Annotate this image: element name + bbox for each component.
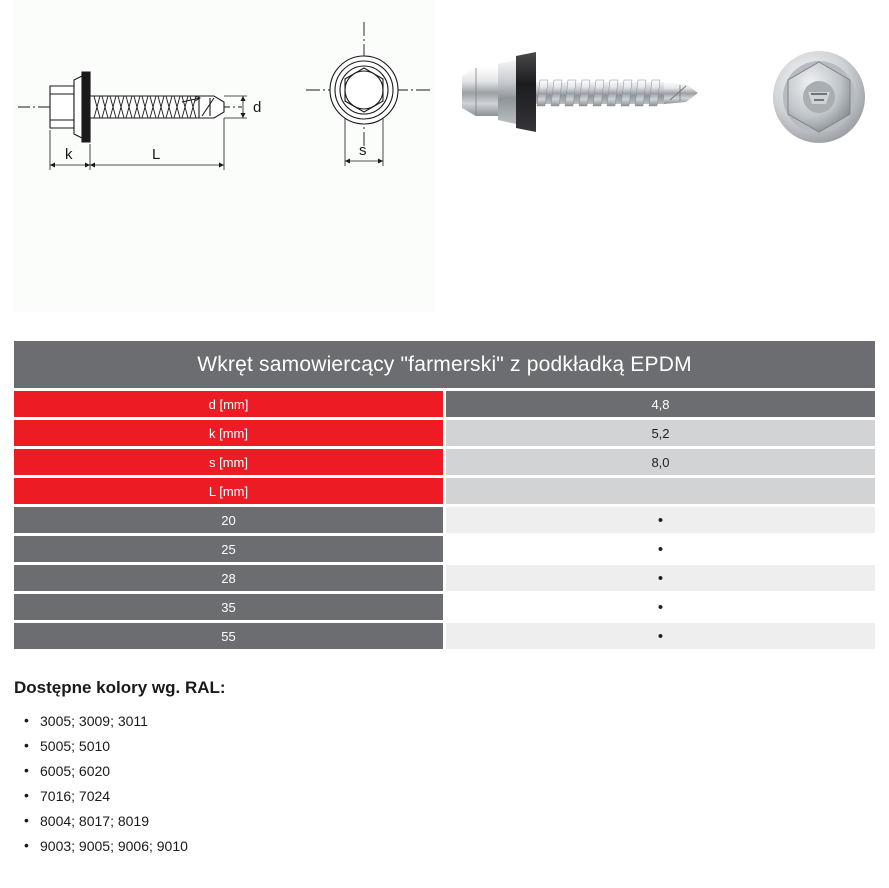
table-title: Wkręt samowiercący "farmerski" z podkład… (14, 341, 875, 388)
ral-color-list: 3005; 3009; 3011 5005; 5010 6005; 6020 7… (14, 714, 614, 853)
row-label-length-55: 55 (14, 623, 443, 649)
technical-drawing-panel: d k L (14, 0, 434, 312)
table-row: 35 • (14, 594, 875, 620)
row-availability-20: • (446, 507, 875, 533)
table-row: 28 • (14, 565, 875, 591)
row-value-d: 4,8 (446, 391, 875, 417)
dimension-label-k: k (65, 146, 73, 163)
screw-side-elevation-drawing: d k L (14, 18, 274, 183)
screw-head-photo-panel (744, 0, 889, 312)
available-colors-section: Dostępne kolory wg. RAL: 3005; 3009; 301… (14, 678, 614, 864)
product-spec-page: d k L (0, 0, 889, 888)
list-item: 7016; 7024 (40, 789, 614, 803)
specification-table: Wkręt samowiercący "farmerski" z podkład… (14, 341, 875, 652)
screw-side-photo (454, 38, 744, 148)
table-row: d [mm] 4,8 (14, 391, 875, 417)
list-item: 9003; 9005; 9006; 9010 (40, 839, 614, 853)
dimension-label-L: L (152, 146, 160, 163)
row-value-L (446, 478, 875, 504)
table-row: s [mm] 8,0 (14, 449, 875, 475)
table-row: 20 • (14, 507, 875, 533)
screw-front-view-drawing: s (304, 18, 444, 183)
table-title-row: Wkręt samowiercący "farmerski" z podkład… (14, 341, 875, 388)
row-availability-35: • (446, 594, 875, 620)
dimension-label-s: s (359, 142, 367, 159)
row-value-s: 8,0 (446, 449, 875, 475)
row-label-d: d [mm] (14, 391, 443, 417)
row-label-length-25: 25 (14, 536, 443, 562)
row-label-k: k [mm] (14, 420, 443, 446)
list-item: 3005; 3009; 3011 (40, 714, 614, 728)
screw-head-photo (764, 42, 874, 152)
table-row: 55 • (14, 623, 875, 649)
table-row: k [mm] 5,2 (14, 420, 875, 446)
row-label-length-28: 28 (14, 565, 443, 591)
row-availability-55: • (446, 623, 875, 649)
row-label-length-20: 20 (14, 507, 443, 533)
screw-side-photo-panel (444, 0, 744, 312)
row-label-length-35: 35 (14, 594, 443, 620)
list-item: 8004; 8017; 8019 (40, 814, 614, 828)
row-availability-25: • (446, 536, 875, 562)
available-colors-heading: Dostępne kolory wg. RAL: (14, 678, 614, 698)
row-label-L: L [mm] (14, 478, 443, 504)
list-item: 6005; 6020 (40, 764, 614, 778)
row-label-s: s [mm] (14, 449, 443, 475)
media-strip: d k L (0, 0, 889, 312)
row-value-k: 5,2 (446, 420, 875, 446)
dimension-label-d: d (253, 99, 261, 116)
table-row: 25 • (14, 536, 875, 562)
list-item: 5005; 5010 (40, 739, 614, 753)
row-availability-28: • (446, 565, 875, 591)
table-row: L [mm] (14, 478, 875, 504)
